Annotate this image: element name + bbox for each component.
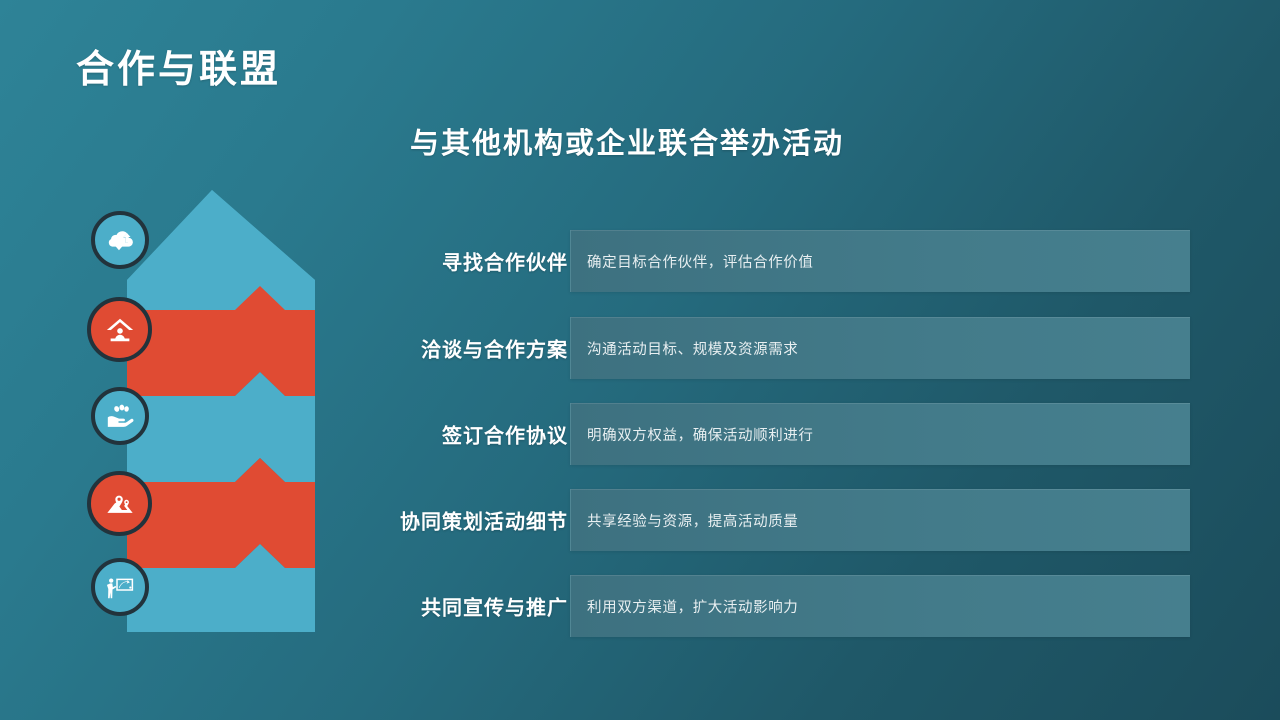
- step-bar-2[interactable]: 沟通活动目标、规模及资源需求: [570, 317, 1190, 379]
- step-description-5: 利用双方渠道，扩大活动影响力: [571, 596, 798, 617]
- step-description-1: 确定目标合作伙伴，评估合作价值: [571, 251, 814, 272]
- step-row-5[interactable]: 共同宣传与推广 利用双方渠道，扩大活动影响力: [350, 575, 1190, 637]
- step-description-4: 共享经验与资源，提高活动质量: [571, 510, 798, 531]
- step-description-3: 明确双方权益，确保活动顺利进行: [571, 424, 814, 445]
- step-bar-5[interactable]: 利用双方渠道，扩大活动影响力: [570, 575, 1190, 637]
- step-row-1[interactable]: 寻找合作伙伴 确定目标合作伙伴，评估合作价值: [350, 230, 1190, 292]
- step-label-5: 共同宣传与推广: [318, 592, 568, 621]
- step-description-2: 沟通活动目标、规模及资源需求: [571, 338, 798, 359]
- step-bar-3[interactable]: 明确双方权益，确保活动顺利进行: [570, 403, 1190, 465]
- step-row-4[interactable]: 协同策划活动细节 共享经验与资源，提高活动质量: [350, 489, 1190, 551]
- step-bar-1[interactable]: 确定目标合作伙伴，评估合作价值: [570, 230, 1190, 292]
- step-label-4: 协同策划活动细节: [318, 506, 568, 535]
- step-label-3: 签订合作协议: [318, 420, 568, 449]
- step-row-2[interactable]: 洽谈与合作方案 沟通活动目标、规模及资源需求: [350, 317, 1190, 379]
- steps-list: 寻找合作伙伴 确定目标合作伙伴，评估合作价值 洽谈与合作方案 沟通活动目标、规模…: [0, 0, 1280, 720]
- slide-canvas: 合作与联盟 与其他机构或企业联合举办活动: [0, 0, 1280, 720]
- step-label-2: 洽谈与合作方案: [318, 334, 568, 363]
- step-row-3[interactable]: 签订合作协议 明确双方权益，确保活动顺利进行: [350, 403, 1190, 465]
- step-bar-4[interactable]: 共享经验与资源，提高活动质量: [570, 489, 1190, 551]
- step-label-1: 寻找合作伙伴: [318, 247, 568, 276]
